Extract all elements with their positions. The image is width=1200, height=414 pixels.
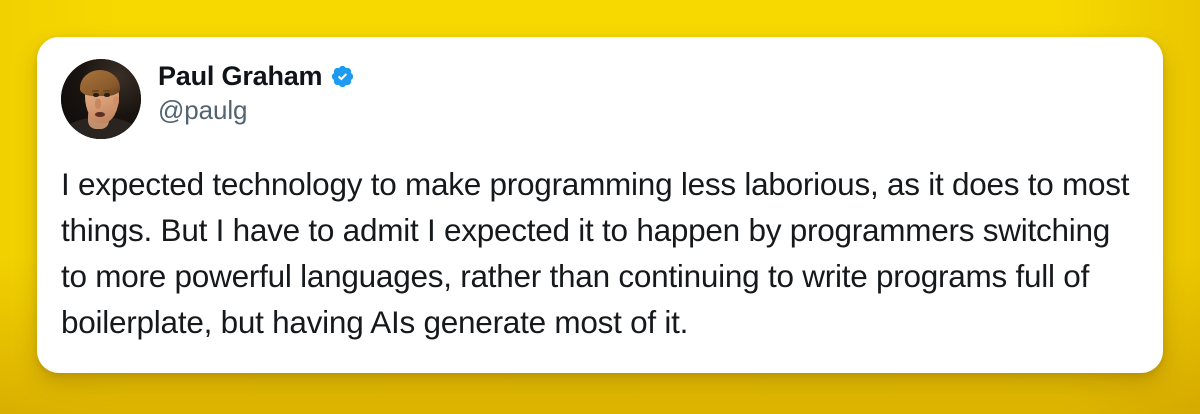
verified-badge-icon[interactable]: [330, 64, 355, 89]
author-name-row: Paul Graham: [158, 63, 355, 90]
avatar-eye-left: [93, 93, 99, 97]
author-display-name[interactable]: Paul Graham: [158, 63, 322, 90]
avatar-nose: [95, 99, 101, 109]
author-handle[interactable]: @paulg: [158, 96, 355, 126]
avatar-eyebrow-right: [103, 90, 110, 92]
avatar-eyebrow-left: [92, 90, 99, 92]
tweet-header: Paul Graham @paulg: [61, 59, 1139, 147]
tweet-card[interactable]: Paul Graham @paulg I expected technology…: [37, 37, 1163, 373]
author-identity: Paul Graham @paulg: [158, 59, 355, 126]
avatar[interactable]: [61, 59, 141, 139]
tweet-screenshot-background: Paul Graham @paulg I expected technology…: [0, 0, 1200, 414]
avatar-eye-right: [104, 93, 110, 97]
tweet-body-text: I expected technology to make programmin…: [61, 161, 1139, 345]
